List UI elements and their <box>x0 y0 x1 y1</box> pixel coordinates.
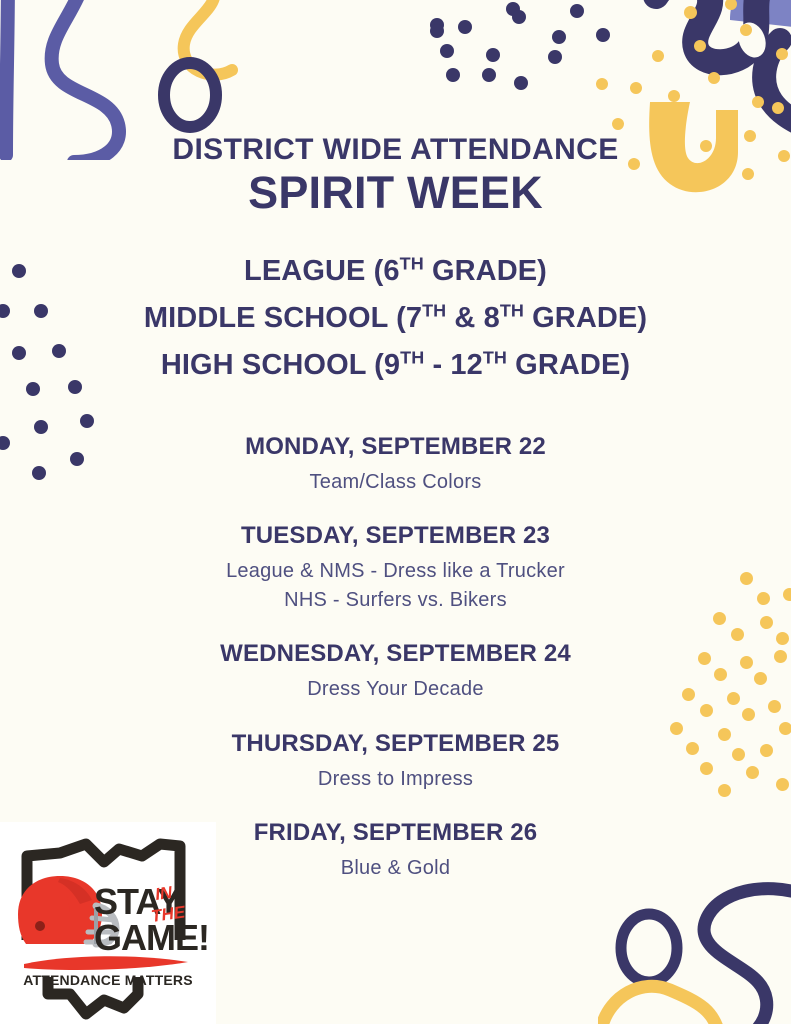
day-theme-thursday: Dress to Impress <box>0 765 791 793</box>
schedule-day-monday: MONDAY, SEPTEMBER 22 Team/Class Colors <box>0 432 791 496</box>
title-block: DISTRICT WIDE ATTENDANCE SPIRIT WEEK <box>0 134 791 218</box>
day-theme-monday: Team/Class Colors <box>0 468 791 496</box>
spirit-week-flyer: DISTRICT WIDE ATTENDANCE SPIRIT WEEK LEA… <box>0 0 791 1024</box>
logo-red-swoosh <box>24 956 188 970</box>
grade-ms-ordinal-2: TH <box>500 300 524 320</box>
logo-word-in: IN <box>154 883 174 904</box>
page-title: SPIRIT WEEK <box>0 168 791 218</box>
grade-league-ordinal: TH <box>400 253 424 273</box>
grade-ms-prefix: MIDDLE SCHOOL (7 <box>144 302 422 334</box>
grade-line-league: LEAGUE (6TH GRADE) <box>0 248 791 295</box>
grade-hs-prefix: HIGH SCHOOL (9 <box>161 349 400 381</box>
logo-tagline: ATTENDANCE MATTERS <box>23 972 193 988</box>
spirit-week-schedule: MONDAY, SEPTEMBER 22 Team/Class Colors T… <box>0 432 791 882</box>
grade-league-mid: GRADE) <box>424 255 547 287</box>
grade-hs-ordinal-2: TH <box>483 347 507 367</box>
stay-in-the-game-logo: STAY GAME! IN THE ATTENDANCE MATTERS <box>0 822 216 1024</box>
grade-league-prefix: LEAGUE (6 <box>244 255 400 287</box>
day-label-thursday: THURSDAY, SEPTEMBER 25 <box>0 729 791 759</box>
grade-hs-ordinal-1: TH <box>400 347 424 367</box>
day-label-wednesday: WEDNESDAY, SEPTEMBER 24 <box>0 639 791 669</box>
grade-hs-mid: - 12 <box>424 349 483 381</box>
grade-ms-mid: & 8 <box>446 302 500 334</box>
day-theme-wednesday: Dress Your Decade <box>0 675 791 703</box>
grade-hs-suffix: GRADE) <box>507 349 630 381</box>
grade-levels-block: LEAGUE (6TH GRADE) MIDDLE SCHOOL (7TH & … <box>0 248 791 389</box>
day-theme-tuesday-line-1: League & NMS - Dress like a Trucker <box>0 557 791 585</box>
day-theme-tuesday-line-2: NHS - Surfers vs. Bikers <box>0 586 791 614</box>
grade-ms-ordinal-1: TH <box>422 300 446 320</box>
schedule-day-thursday: THURSDAY, SEPTEMBER 25 Dress to Impress <box>0 729 791 793</box>
day-label-tuesday: TUESDAY, SEPTEMBER 23 <box>0 521 791 551</box>
grade-ms-suffix: GRADE) <box>524 302 647 334</box>
schedule-day-tuesday: TUESDAY, SEPTEMBER 23 League & NMS - Dre… <box>0 521 791 614</box>
eyebrow-heading: DISTRICT WIDE ATTENDANCE <box>0 134 791 166</box>
schedule-day-wednesday: WEDNESDAY, SEPTEMBER 24 Dress Your Decad… <box>0 639 791 703</box>
logo-artwork: STAY GAME! IN THE ATTENDANCE MATTERS <box>0 822 216 1024</box>
grade-line-middle-school: MIDDLE SCHOOL (7TH & 8TH GRADE) <box>0 295 791 342</box>
day-label-monday: MONDAY, SEPTEMBER 22 <box>0 432 791 462</box>
grade-line-high-school: HIGH SCHOOL (9TH - 12TH GRADE) <box>0 342 791 389</box>
